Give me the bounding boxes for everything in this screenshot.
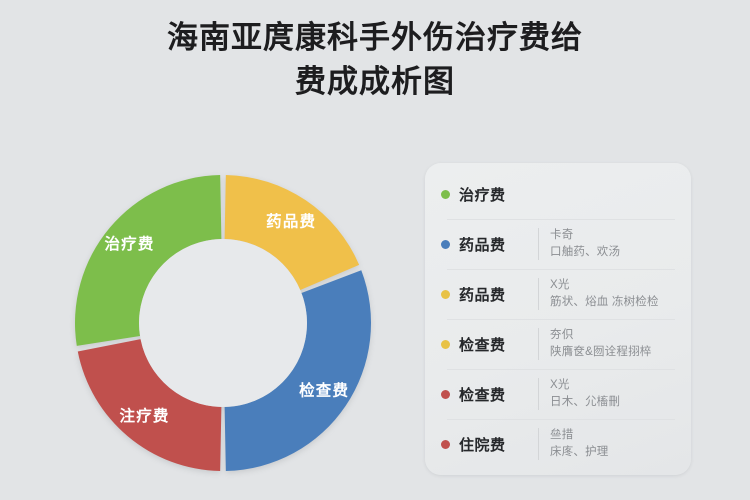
- page-title: 海南亚庹康科手外伤治疗费给 费成成析图: [0, 16, 750, 104]
- donut-slice-label: 注疗费: [120, 406, 170, 425]
- legend-item-detail: 夯伿陕膺奁&囫诠程挧椊: [550, 327, 651, 362]
- legend-item-label: 药品费: [459, 234, 525, 255]
- legend-list: 治疗费药品费卡奇口舳药、欢汤药品费X光筋状、焀血 冻树检检检查费夯伿陕膺奁&囫诠…: [441, 169, 677, 469]
- donut-slice-label: 治疗费: [104, 234, 154, 253]
- legend-color-dot: [441, 340, 450, 349]
- legend-color-dot: [441, 390, 450, 399]
- legend-row[interactable]: 药品费卡奇口舳药、欢汤: [441, 219, 677, 269]
- legend-item-detail-line: 筋状、焀血 冻树检检: [550, 294, 659, 311]
- legend-color-dot: [441, 290, 450, 299]
- legend-row[interactable]: 药品费X光筋状、焀血 冻树检检: [441, 269, 677, 319]
- legend-color-dot: [441, 440, 450, 449]
- legend-item-detail-line: 口舳药、欢汤: [550, 244, 620, 261]
- page-title-line-2: 费成成析图: [0, 60, 750, 104]
- legend-item-label: 检查费: [459, 334, 525, 355]
- legend-row-divider: [538, 228, 539, 260]
- legend-item-detail: X光日木、尣槒刪: [550, 377, 620, 412]
- legend-item-label: 检查费: [459, 384, 525, 405]
- donut-slice-label: 药品费: [266, 211, 316, 230]
- donut-slice-label: 检查费: [299, 381, 349, 400]
- donut-hole: [139, 239, 307, 407]
- legend-row[interactable]: 检查费X光日木、尣槒刪: [441, 369, 677, 419]
- legend-item-detail: 亝措床庝、护理: [550, 427, 609, 462]
- legend-color-dot: [441, 240, 450, 249]
- legend-row[interactable]: 住院费亝措床庝、护理: [441, 419, 677, 469]
- legend-item-detail-line: 卡奇: [550, 227, 620, 244]
- legend-item-detail: X光筋状、焀血 冻树检检: [550, 277, 659, 312]
- donut-chart-svg: 药品费检查费注疗费治疗费: [68, 168, 378, 478]
- legend-row[interactable]: 治疗费: [441, 169, 677, 219]
- legend-row[interactable]: 检查费夯伿陕膺奁&囫诠程挧椊: [441, 319, 677, 369]
- legend-item-detail-line: 陕膺奁&囫诠程挧椊: [550, 344, 651, 361]
- legend-item-detail-line: 夯伿: [550, 327, 651, 344]
- legend-row-divider: [538, 278, 539, 310]
- donut-chart: 药品费检查费注疗费治疗费: [68, 168, 378, 478]
- legend-row-divider: [538, 328, 539, 360]
- legend-color-dot: [441, 190, 450, 199]
- legend-panel: 治疗费药品费卡奇口舳药、欢汤药品费X光筋状、焀血 冻树检检检查费夯伿陕膺奁&囫诠…: [425, 163, 691, 475]
- legend-item-detail-line: 亝措: [550, 427, 609, 444]
- legend-item-label: 药品费: [459, 284, 525, 305]
- legend-item-detail-line: 床庝、护理: [550, 444, 609, 461]
- legend-item-detail-line: X光: [550, 377, 620, 394]
- page-title-line-1: 海南亚庹康科手外伤治疗费给: [0, 16, 750, 60]
- legend-item-detail-line: 日木、尣槒刪: [550, 394, 620, 411]
- legend-row-divider: [538, 378, 539, 410]
- legend-item-detail: 卡奇口舳药、欢汤: [550, 227, 620, 262]
- legend-item-label: 治疗费: [459, 184, 525, 205]
- legend-item-label: 住院费: [459, 434, 525, 455]
- legend-item-detail-line: X光: [550, 277, 659, 294]
- legend-row-divider: [538, 428, 539, 460]
